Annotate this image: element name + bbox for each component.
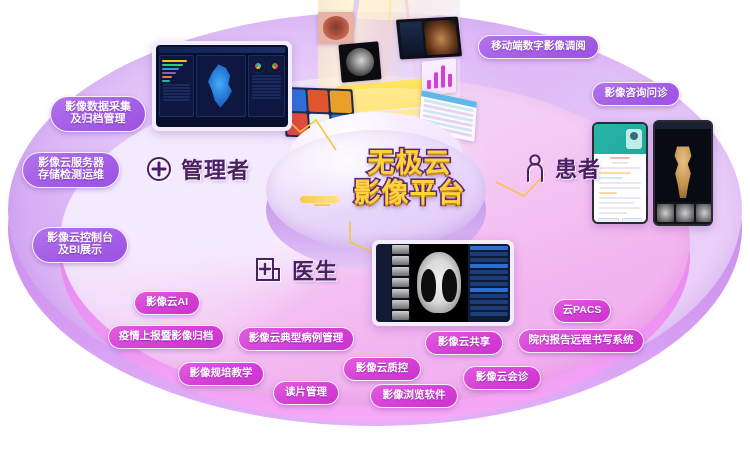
label-image-cloud-quality-control[interactable]: 影像云质控: [343, 357, 421, 381]
label-image-cloud-ai[interactable]: 影像云AI: [134, 291, 200, 315]
app-header-banner: [594, 124, 646, 154]
ct-lung-lobe: [442, 269, 457, 302]
pill-line: 影像云典型病例管理: [249, 333, 344, 344]
donut-chart: [251, 59, 265, 73]
label-image-cloud-console-bi[interactable]: 影像云控制台 及BI展示: [32, 227, 128, 263]
patient-app-screen: [594, 124, 646, 222]
label-image-consultation[interactable]: 影像咨询问诊: [592, 82, 680, 106]
label-image-browsing-software[interactable]: 影像浏览软件: [370, 384, 458, 408]
role-patient[interactable]: 患者: [524, 152, 601, 184]
dashboard-right-panel: [248, 55, 285, 117]
pill-line: 读片管理: [285, 387, 327, 398]
floating-xray-image: [396, 16, 462, 59]
app-action-buttons[interactable]: [598, 218, 642, 222]
viewer-toolbar[interactable]: [655, 122, 711, 129]
pill-line: 影像浏览软件: [383, 390, 446, 401]
pill-line: 影像云质控: [356, 363, 409, 374]
label-image-data-collection[interactable]: 影像数据采集 及归档管理: [50, 96, 146, 132]
doctor-illustration: [626, 129, 642, 149]
label-cloud-pacs[interactable]: 云PACS: [553, 299, 611, 323]
floating-bar-chart: [422, 58, 456, 96]
role-patient-label: 患者: [555, 152, 601, 184]
infographic-canvas: 无极云 影像平台 管理者 患者 医生: [0, 0, 750, 450]
mobile-image-viewer-phone[interactable]: [653, 120, 713, 226]
pill-line: 存储检测运维: [38, 169, 104, 181]
mobile-viewer-screen: [655, 122, 711, 224]
pill-line: 影像云AI: [146, 297, 188, 308]
pill-line: 及BI展示: [58, 244, 102, 256]
donut-chart: [268, 59, 282, 73]
medical-record-plus-icon: [255, 256, 283, 284]
bi-dashboard-device[interactable]: [152, 41, 292, 131]
label-typical-case-management[interactable]: 影像云典型病例管理: [238, 327, 354, 351]
label-mobile-image-retrieval[interactable]: 移动端数字影像调阅: [478, 35, 599, 59]
label-image-cloud-server-ops[interactable]: 影像云服务器 存储检测运维: [22, 152, 120, 188]
page-title: 无极云 影像平台: [322, 148, 497, 208]
role-administrator[interactable]: 管理者: [146, 153, 250, 185]
label-image-cloud-consultation[interactable]: 影像云会诊: [463, 366, 541, 390]
role-doctor-label: 医生: [292, 254, 338, 286]
ct-image-canvas: [410, 244, 468, 322]
label-imaging-training-education[interactable]: 影像规培教学: [178, 362, 264, 386]
title-line-1: 无极云: [322, 148, 497, 178]
pill-line: 影像云服务器: [38, 157, 104, 169]
role-administrator-label: 管理者: [181, 153, 250, 185]
pill-line: 及归档管理: [71, 113, 126, 125]
person-icon: [524, 154, 546, 182]
china-map-visualization: [206, 64, 237, 107]
pill-line: 疫情上报暨影像归档: [119, 331, 214, 342]
label-film-reading-management[interactable]: 读片管理: [273, 381, 339, 405]
label-image-cloud-sharing[interactable]: 影像云共享: [425, 331, 503, 355]
pill-line: 院内报告远程书写系统: [529, 335, 634, 346]
bi-dashboard-screen: [156, 45, 288, 127]
ct-viewer-device[interactable]: [372, 240, 514, 326]
pill-line: 影像规培教学: [190, 368, 253, 379]
role-doctor[interactable]: 医生: [255, 254, 338, 286]
floating-ultrasound-image: [338, 41, 381, 82]
dashboard-header-bar: [159, 47, 285, 53]
pill-line: 影像云共享: [438, 337, 491, 348]
dashboard-map-panel: [196, 55, 246, 117]
ct-viewer-screen: [376, 244, 510, 322]
ct-lung-lobe: [421, 269, 436, 302]
dashboard-left-panel: [159, 55, 194, 117]
pill-line: 影像数据采集: [65, 101, 131, 113]
pill-line: 影像云控制台: [47, 232, 113, 244]
pill-line: 移动端数字影像调阅: [491, 41, 586, 52]
floating-endoscopy-image: [318, 12, 354, 44]
pill-line: 云PACS: [563, 305, 602, 316]
ct-report-panel: [468, 244, 510, 322]
3d-skeleton-render: [668, 146, 698, 198]
label-in-hospital-remote-report-system[interactable]: 院内报告远程书写系统: [518, 329, 644, 353]
ct-tool-rail: [376, 244, 391, 322]
label-epidemic-report-archive[interactable]: 疫情上报暨影像归档: [108, 325, 224, 349]
ct-series-thumbnails: [391, 244, 410, 322]
pill-line: 影像云会诊: [476, 372, 529, 383]
pill-line: 影像咨询问诊: [605, 88, 668, 99]
circle-plus-icon: [146, 156, 172, 182]
viewer-thumbnail-strip[interactable]: [655, 202, 711, 224]
title-line-2: 影像平台: [322, 178, 497, 208]
